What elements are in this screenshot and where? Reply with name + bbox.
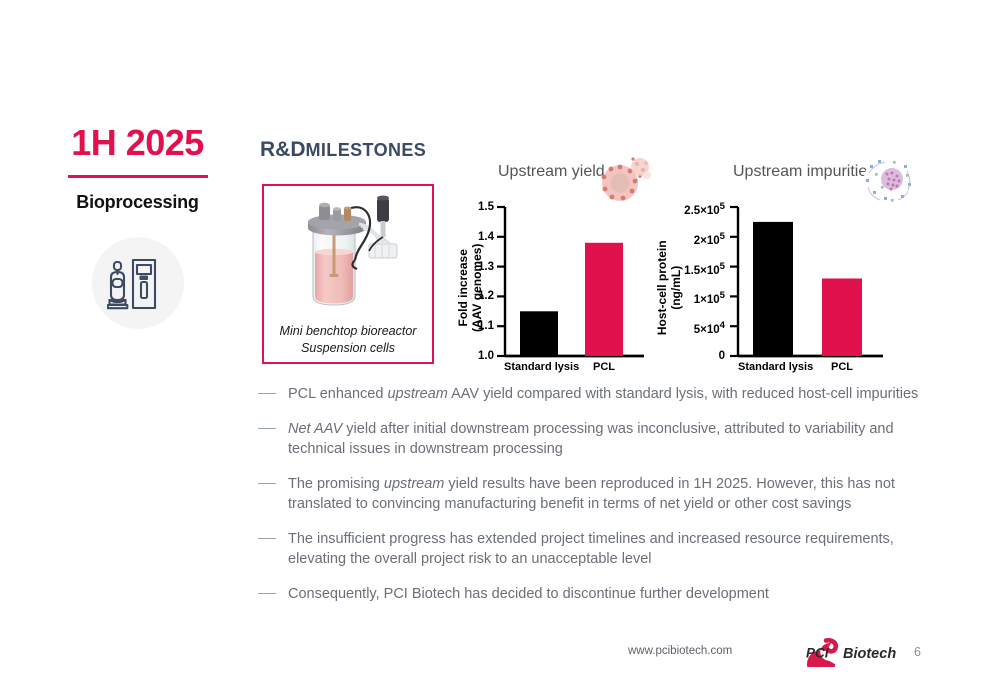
xtick-standard-lysis: Standard lysis bbox=[504, 361, 574, 373]
svg-text:Biotech: Biotech bbox=[843, 646, 896, 662]
yaxis-label-line1: Host-cell protein bbox=[656, 208, 670, 368]
list-item: Net AAV yield after initial downstream p… bbox=[258, 419, 930, 460]
chart-upstream-impurities: Upstream impurities bbox=[655, 160, 905, 380]
pci-biotech-logo-glyph: PCI Biotech bbox=[800, 637, 896, 667]
sidebar: 1H 2025 Bioprocessing bbox=[40, 125, 235, 329]
page-number: 6 bbox=[914, 645, 921, 659]
photo-caption-line2: Suspension cells bbox=[280, 340, 417, 357]
footer-website-url[interactable]: www.pcibiotech.com bbox=[628, 645, 732, 657]
xtick-standard-lysis: Standard lysis bbox=[738, 361, 808, 373]
bullet-dash-icon bbox=[258, 393, 276, 394]
bar-standard-lysis bbox=[753, 222, 793, 356]
bullet-list: PCL enhanced upstream AAV yield compared… bbox=[258, 384, 930, 619]
bioreactor-equipment-glyph bbox=[107, 253, 169, 313]
yaxis-label-upstream-yield: Fold increase (AAV genomes) bbox=[457, 213, 485, 363]
page-title-strong: R&D bbox=[260, 138, 306, 161]
list-item: The insufficient progress has extended p… bbox=[258, 529, 930, 570]
bullet-dash-icon bbox=[258, 593, 276, 594]
benchtop-bioreactor-photo bbox=[291, 190, 406, 323]
bullet-dash-icon bbox=[258, 538, 276, 539]
xtick-pcl: PCL bbox=[582, 361, 626, 373]
bullet-dash-icon bbox=[258, 428, 276, 429]
chart-upstream-yield: Upstream yield bbox=[448, 160, 658, 380]
page-title-light: MILESTONES bbox=[306, 140, 427, 160]
list-item: PCL enhanced upstream AAV yield compared… bbox=[258, 384, 930, 405]
yaxis-label-line1: Fold increase bbox=[457, 213, 471, 363]
benchtop-bioreactor-illustration bbox=[291, 190, 406, 318]
yaxis-label-upstream-impurities: Host-cell protein (ng/mL) bbox=[656, 208, 684, 368]
title-divider bbox=[68, 175, 208, 178]
photo-caption: Mini benchtop bioreactor Suspension cell… bbox=[276, 323, 421, 357]
bullet-text: The insufficient progress has extended p… bbox=[288, 529, 930, 570]
pci-biotech-logo: PCI Biotech bbox=[800, 637, 896, 672]
period-title: 1H 2025 bbox=[40, 125, 235, 161]
bioreactor-photo-card: Mini benchtop bioreactor Suspension cell… bbox=[262, 184, 434, 364]
bullet-text: Net AAV yield after initial downstream p… bbox=[288, 419, 930, 460]
bar-pcl bbox=[822, 279, 862, 357]
bar-pcl bbox=[585, 243, 623, 356]
yaxis-label-line2: (AAV genomes) bbox=[471, 213, 485, 363]
bullet-text: Consequently, PCI Biotech has decided to… bbox=[288, 584, 930, 605]
bullet-text: PCL enhanced upstream AAV yield compared… bbox=[288, 384, 930, 405]
page-title: R&DMILESTONES bbox=[260, 138, 426, 162]
bioreactor-equipment-icon bbox=[92, 237, 184, 329]
xtick-pcl: PCL bbox=[820, 361, 864, 373]
ytick-1: 1.5 bbox=[466, 201, 494, 213]
bar-standard-lysis bbox=[520, 311, 558, 356]
svg-text:PCI: PCI bbox=[806, 646, 829, 661]
list-item: Consequently, PCI Biotech has decided to… bbox=[258, 584, 930, 605]
yaxis-label-line2: (ng/mL) bbox=[670, 208, 684, 368]
bullet-dash-icon bbox=[258, 483, 276, 484]
slide-canvas: 1H 2025 Bioprocessing R&DMILESTONES bbox=[0, 0, 1000, 685]
sidebar-subtitle: Bioprocessing bbox=[40, 192, 235, 213]
photo-caption-line1: Mini benchtop bioreactor bbox=[280, 323, 417, 340]
list-item: The promising upstream yield results hav… bbox=[258, 474, 930, 515]
bullet-text: The promising upstream yield results hav… bbox=[288, 474, 930, 515]
